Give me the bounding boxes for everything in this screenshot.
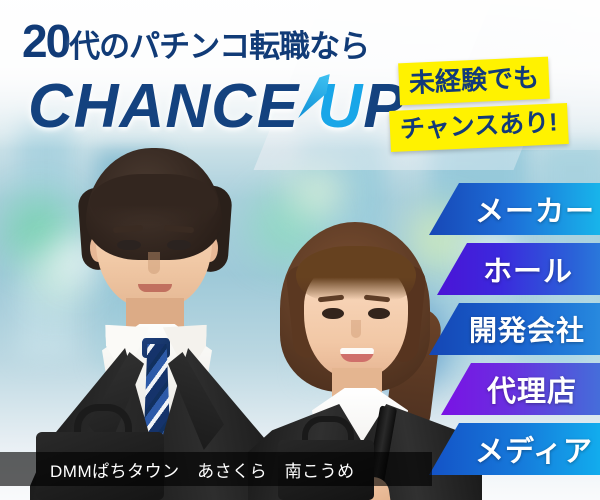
badge-chance-available: チャンスあり!: [389, 103, 568, 152]
woman-mouth: [340, 348, 374, 362]
man-fringe: [90, 174, 218, 226]
headline-tail: なら: [309, 29, 369, 64]
badge-no-experience: 未経験でも: [398, 57, 550, 106]
man-mouth: [138, 284, 172, 292]
woman-teeth: [340, 348, 374, 354]
category-label: 開発会社: [469, 309, 585, 349]
category-label: メディア: [475, 428, 593, 470]
category-button-maker[interactable]: メーカー: [429, 183, 600, 235]
woman-eye-right: [368, 308, 390, 319]
headline-number: 20: [22, 15, 69, 67]
man-eye-right: [167, 240, 191, 250]
woman-nose: [351, 320, 361, 338]
category-label: メーカー: [475, 188, 595, 230]
credit-text: DMMぱちタウン あさくら 南こうめ: [0, 457, 355, 482]
background-bokeh: [292, 166, 344, 218]
category-label: ホール: [483, 248, 573, 290]
woman-fringe: [296, 246, 416, 300]
category-button-media[interactable]: メディア: [429, 423, 600, 475]
man-nose: [148, 252, 160, 274]
pachinko-recruitment-banner[interactable]: 20代のパチンコ転職なら CHANCE UP 未経験でも チャンスあり! メーカ…: [0, 0, 600, 500]
man-eye-left: [117, 240, 141, 250]
badge-label: チャンスあり!: [399, 108, 558, 143]
category-label: 代理店: [487, 368, 577, 410]
credit-bar: DMMぱちタウン あさくら 南こうめ: [0, 452, 432, 486]
badge-label: 未経験でも: [408, 62, 539, 98]
woman-eye-left: [322, 308, 344, 319]
category-button-developer[interactable]: 開発会社: [429, 303, 600, 355]
headline-middle: 代のパチンコ転職: [69, 29, 309, 64]
logo-chance-text: CHANCE: [28, 72, 299, 141]
brand-logo: CHANCE UP: [28, 76, 406, 138]
headline: 20代のパチンコ転職なら: [22, 18, 369, 64]
